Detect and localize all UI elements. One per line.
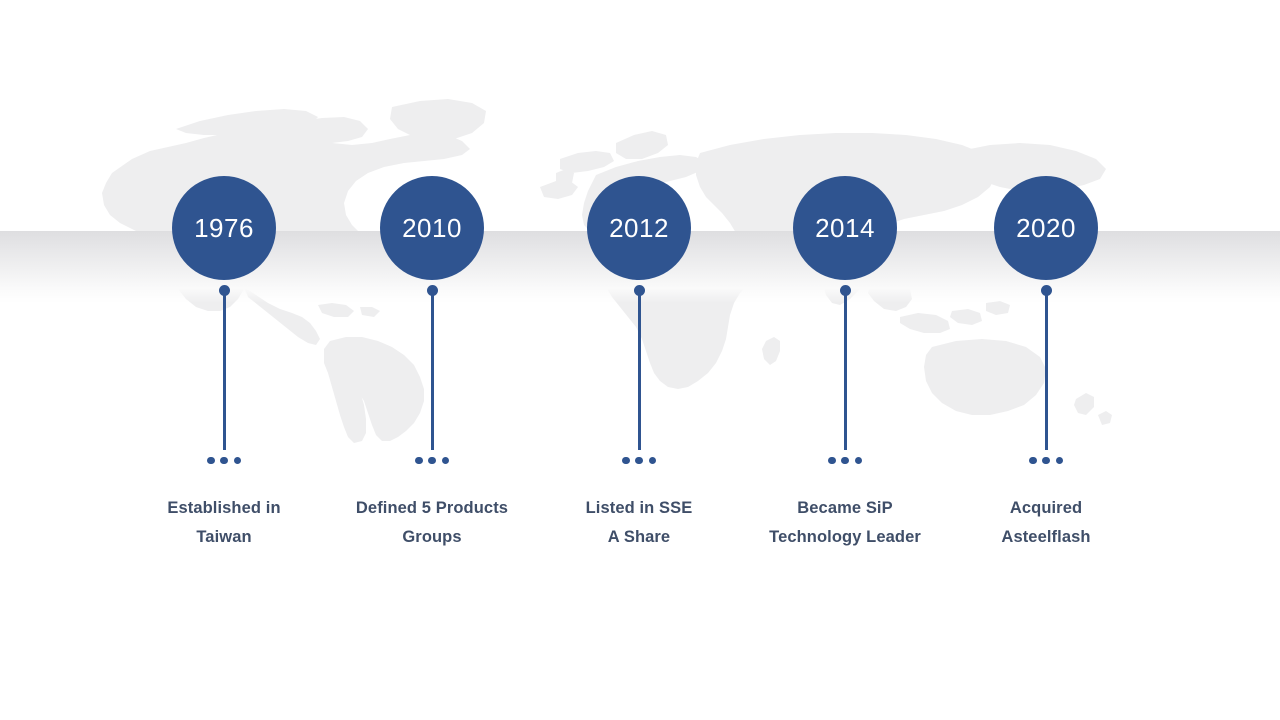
three-dots-icon bbox=[207, 456, 241, 465]
stem-line bbox=[638, 291, 641, 450]
milestone-label: Established in Taiwan bbox=[109, 494, 339, 553]
timeline-milestone-2012[interactable]: 2012 Listed in SSE A Share bbox=[524, 0, 754, 600]
year-label: 2010 bbox=[402, 215, 462, 241]
milestone-label-line2: Taiwan bbox=[109, 523, 339, 552]
year-circle-2010[interactable]: 2010 bbox=[380, 176, 484, 280]
three-dots-icon bbox=[1029, 456, 1063, 465]
milestone-label-line2: Technology Leader bbox=[730, 523, 960, 552]
milestone-label-line1: Became SiP bbox=[797, 499, 892, 517]
year-circle-2020[interactable]: 2020 bbox=[994, 176, 1098, 280]
milestone-label-line1: Defined 5 Products bbox=[356, 499, 508, 517]
three-dots-icon bbox=[622, 456, 656, 465]
milestone-label: Became SiP Technology Leader bbox=[730, 494, 960, 553]
milestone-label-line1: Established in bbox=[167, 499, 280, 517]
year-circle-2012[interactable]: 2012 bbox=[587, 176, 691, 280]
year-label: 1976 bbox=[194, 215, 254, 241]
three-dots-icon bbox=[415, 456, 449, 465]
year-label: 2012 bbox=[609, 215, 669, 241]
milestone-label-line2: Groups bbox=[317, 523, 547, 552]
milestone-label: Defined 5 Products Groups bbox=[317, 494, 547, 553]
milestone-label-line2: Asteelflash bbox=[931, 523, 1161, 552]
year-label: 2014 bbox=[815, 215, 875, 241]
stem-line bbox=[844, 291, 847, 450]
year-circle-1976[interactable]: 1976 bbox=[172, 176, 276, 280]
timeline-milestone-1976[interactable]: 1976 Established in Taiwan bbox=[109, 0, 339, 600]
timeline-milestone-2014[interactable]: 2014 Became SiP Technology Leader bbox=[730, 0, 960, 600]
milestone-label: Listed in SSE A Share bbox=[524, 494, 754, 553]
slide-canvas: 1976 Established in Taiwan 2010 Defined … bbox=[0, 0, 1280, 720]
milestone-label: Acquired Asteelflash bbox=[931, 494, 1161, 553]
stem-line bbox=[1045, 291, 1048, 450]
timeline-milestone-2010[interactable]: 2010 Defined 5 Products Groups bbox=[317, 0, 547, 600]
year-label: 2020 bbox=[1016, 215, 1076, 241]
stem-line bbox=[431, 291, 434, 450]
milestone-label-line1: Acquired bbox=[1010, 499, 1082, 517]
timeline-milestone-2020[interactable]: 2020 Acquired Asteelflash bbox=[931, 0, 1161, 600]
stem-line bbox=[223, 291, 226, 450]
milestone-label-line1: Listed in SSE bbox=[586, 499, 693, 517]
milestone-label-line2: A Share bbox=[524, 523, 754, 552]
year-circle-2014[interactable]: 2014 bbox=[793, 176, 897, 280]
three-dots-icon bbox=[828, 456, 862, 465]
